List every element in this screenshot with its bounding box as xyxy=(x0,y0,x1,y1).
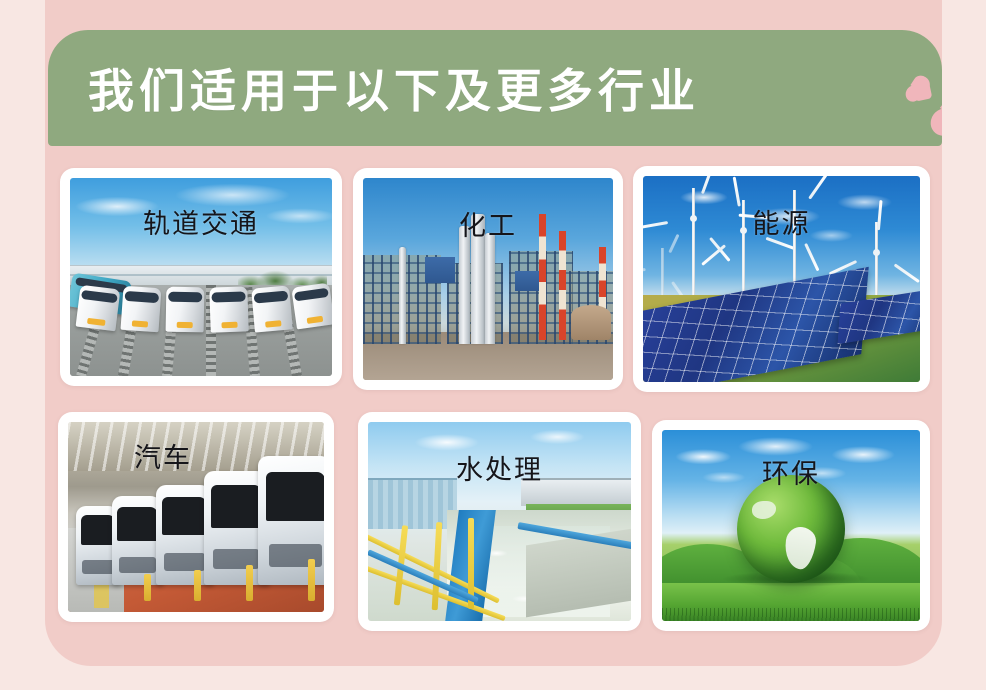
industry-card-automotive[interactable]: 汽车 xyxy=(58,412,334,622)
turbine-hub xyxy=(873,249,880,256)
flare-stack xyxy=(559,231,566,340)
train-unit xyxy=(291,282,332,329)
industry-card-chemical[interactable]: 化工 xyxy=(353,168,623,390)
card-label-water: 水处理 xyxy=(368,448,631,487)
energy-photo: 能源 xyxy=(643,176,920,382)
blue-unit xyxy=(425,257,455,283)
distillation-column xyxy=(485,233,495,344)
card-label-automotive: 汽车 xyxy=(68,436,324,475)
blue-unit xyxy=(515,271,539,291)
distillation-column xyxy=(459,226,470,343)
water-treatment-photo: 水处理 xyxy=(368,422,631,621)
safety-post xyxy=(246,565,253,601)
industry-card-rail[interactable]: 轨道交通 xyxy=(60,168,342,386)
distillation-column xyxy=(399,247,406,344)
rail-transit-photo: 轨道交通 xyxy=(70,178,332,376)
card-label-chemical: 化工 xyxy=(363,204,613,243)
chemical-plant-photo: 化工 xyxy=(363,178,613,380)
grass-foreground xyxy=(662,583,920,621)
industry-card-water[interactable]: 水处理 xyxy=(358,412,641,631)
train-unit xyxy=(251,285,293,332)
card-label-environment: 环保 xyxy=(662,452,920,491)
environment-photo: 环保 xyxy=(662,430,920,621)
industry-card-environment[interactable]: 环保 xyxy=(652,420,930,631)
safety-post xyxy=(144,574,151,601)
train-unit xyxy=(121,286,162,333)
industry-card-energy[interactable]: 能源 xyxy=(633,166,930,392)
card-label-rail: 轨道交通 xyxy=(70,202,332,241)
train-unit xyxy=(166,287,205,333)
heart-small-icon xyxy=(913,83,933,101)
automotive-line-photo: 汽车 xyxy=(68,422,324,612)
safety-post xyxy=(194,570,201,600)
train-unit xyxy=(209,286,249,332)
page-title: 我们适用于以下及更多行业 xyxy=(88,55,700,121)
safety-post xyxy=(308,559,315,601)
header-banner: 我们适用于以下及更多行业 xyxy=(48,30,942,146)
green-globe xyxy=(737,475,845,583)
storage-tank xyxy=(571,305,611,339)
train-unit xyxy=(76,285,121,332)
card-label-energy: 能源 xyxy=(643,202,920,241)
